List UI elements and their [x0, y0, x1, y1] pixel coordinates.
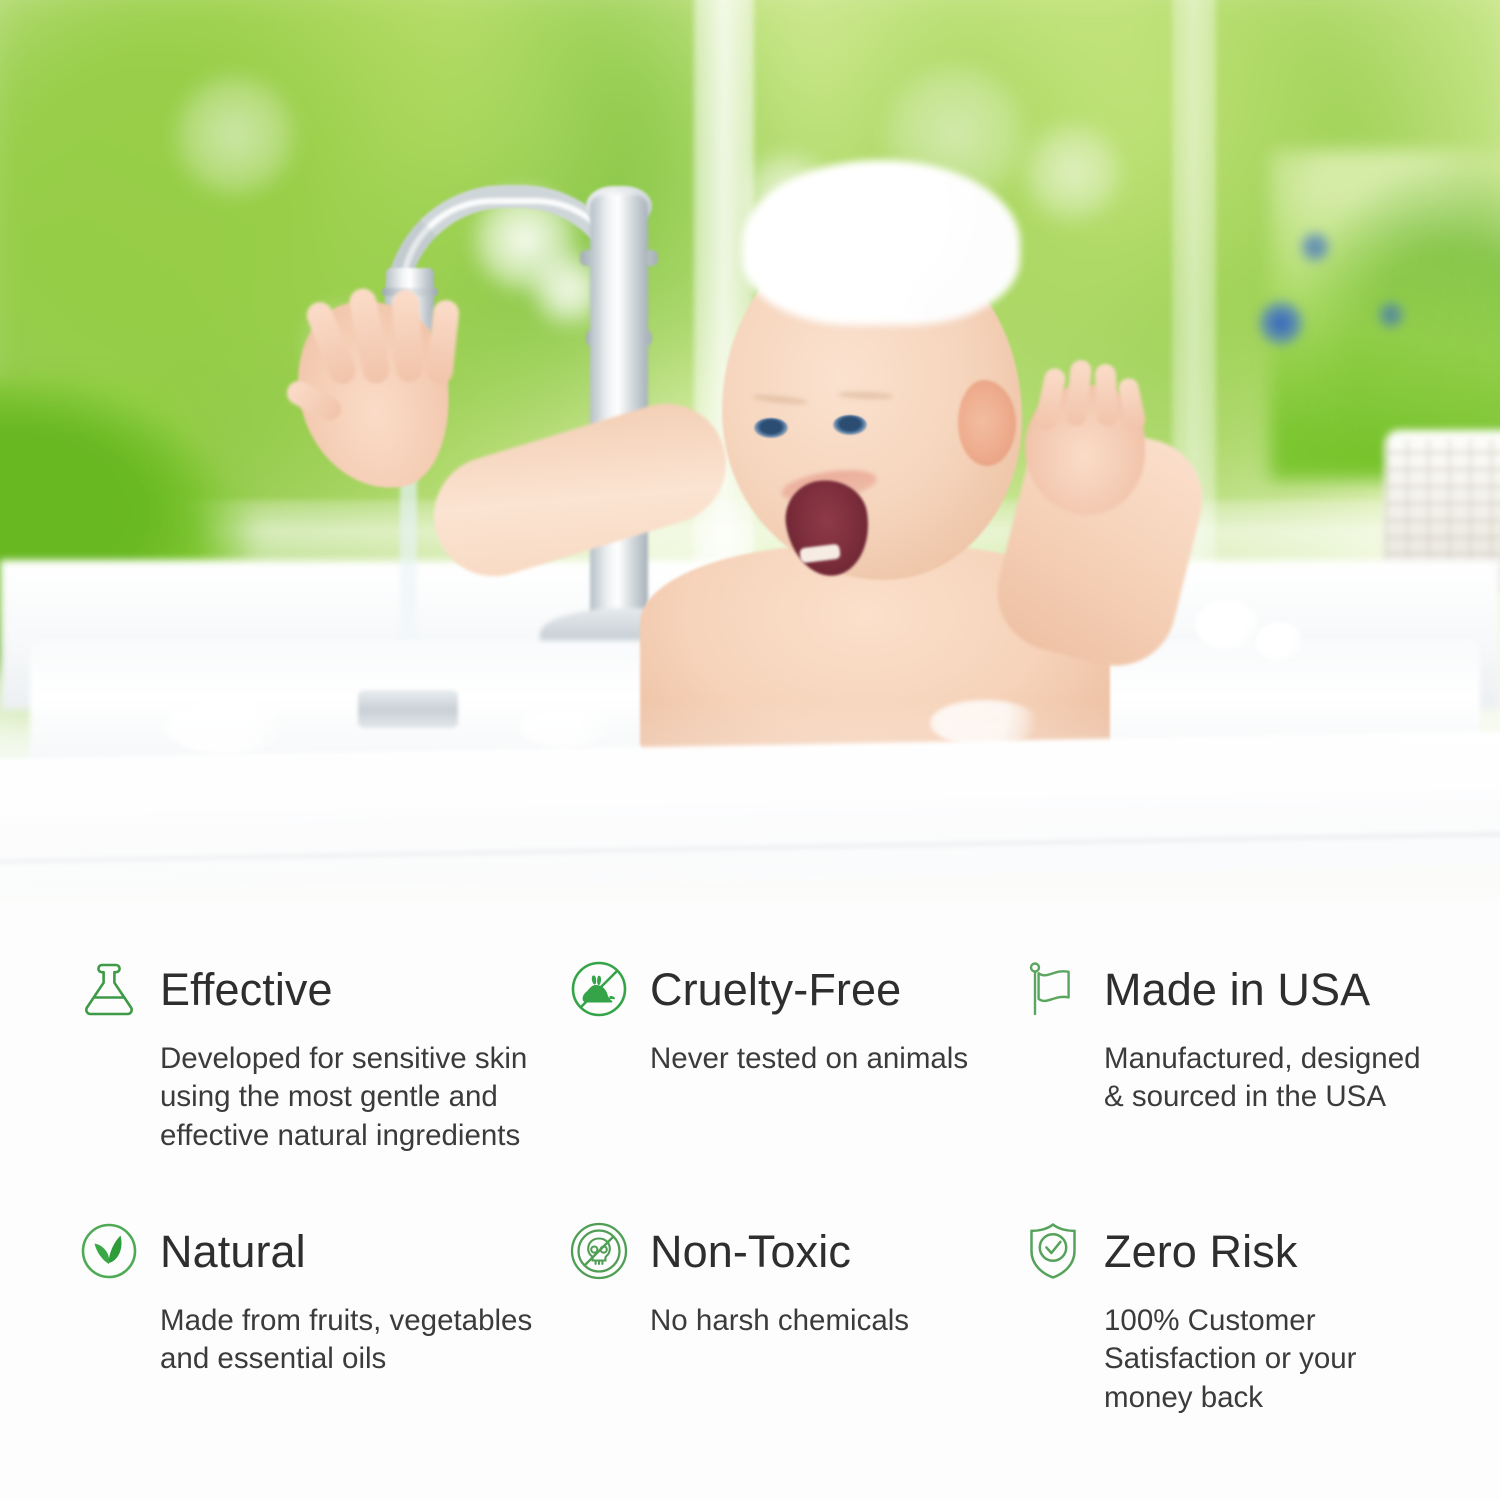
feature-title: Natural	[160, 1229, 306, 1274]
feature-effective: Effective Developed for sensitive skin u…	[78, 958, 527, 1155]
hero-photo	[0, 0, 1500, 900]
feature-header: Cruelty-Free	[568, 958, 968, 1020]
photo-fade-to-white	[0, 700, 1500, 900]
product-feature-page: Effective Developed for sensitive skin u…	[0, 0, 1500, 1500]
feature-header: Natural	[78, 1220, 532, 1282]
feature-description: Never tested on animals	[650, 1040, 968, 1078]
leaves-icon	[78, 1220, 140, 1282]
soap-foam-on-head	[742, 160, 1020, 325]
feature-title: Cruelty-Free	[650, 967, 901, 1012]
bokeh-highlight	[1020, 120, 1125, 225]
feature-description: Made from fruits, vegetables and essenti…	[160, 1302, 532, 1379]
baby-finger	[1094, 363, 1118, 426]
feature-header: Effective	[78, 958, 527, 1020]
feature-header: Made in USA	[1022, 958, 1421, 1020]
feature-header: Non-Toxic	[568, 1220, 909, 1282]
feature-natural: Natural Made from fruits, vegetables and…	[78, 1220, 532, 1379]
no-skull-icon	[568, 1220, 630, 1282]
flask-icon	[78, 958, 140, 1020]
feature-cruelty-free: Cruelty-Free Never tested on animals	[568, 958, 968, 1078]
feature-zero-risk: Zero Risk 100% Customer Satisfaction or …	[1022, 1220, 1357, 1417]
feature-description: Manufactured, designed & sourced in the …	[1104, 1040, 1421, 1117]
flag-icon	[1022, 958, 1084, 1020]
feature-description: Developed for sensitive skin using the m…	[160, 1040, 527, 1155]
bokeh-highlight	[170, 70, 300, 200]
soap-suds	[1255, 622, 1303, 660]
feature-description: No harsh chemicals	[650, 1302, 909, 1340]
baby-eye	[833, 415, 867, 435]
feature-header: Zero Risk	[1022, 1220, 1357, 1282]
feature-grid: Effective Developed for sensitive skin u…	[0, 930, 1500, 1500]
blue-flower	[1258, 300, 1304, 346]
blue-flower	[1300, 230, 1330, 264]
blue-flower	[1378, 300, 1404, 330]
feature-title: Non-Toxic	[650, 1229, 851, 1274]
no-rabbit-icon	[568, 958, 630, 1020]
baby-ear	[958, 380, 1016, 466]
feature-title: Made in USA	[1104, 967, 1370, 1012]
feature-title: Zero Risk	[1104, 1229, 1297, 1274]
shield-check-icon	[1022, 1220, 1084, 1282]
soap-suds	[1195, 600, 1259, 650]
feature-non-toxic: Non-Toxic No harsh chemicals	[568, 1220, 909, 1340]
feature-description: 100% Customer Satisfaction or your money…	[1104, 1302, 1357, 1417]
feature-made-in-usa: Made in USA Manufactured, designed & sou…	[1022, 958, 1421, 1117]
baby-eye	[754, 418, 788, 438]
feature-title: Effective	[160, 967, 333, 1012]
baby-finger	[392, 289, 424, 382]
